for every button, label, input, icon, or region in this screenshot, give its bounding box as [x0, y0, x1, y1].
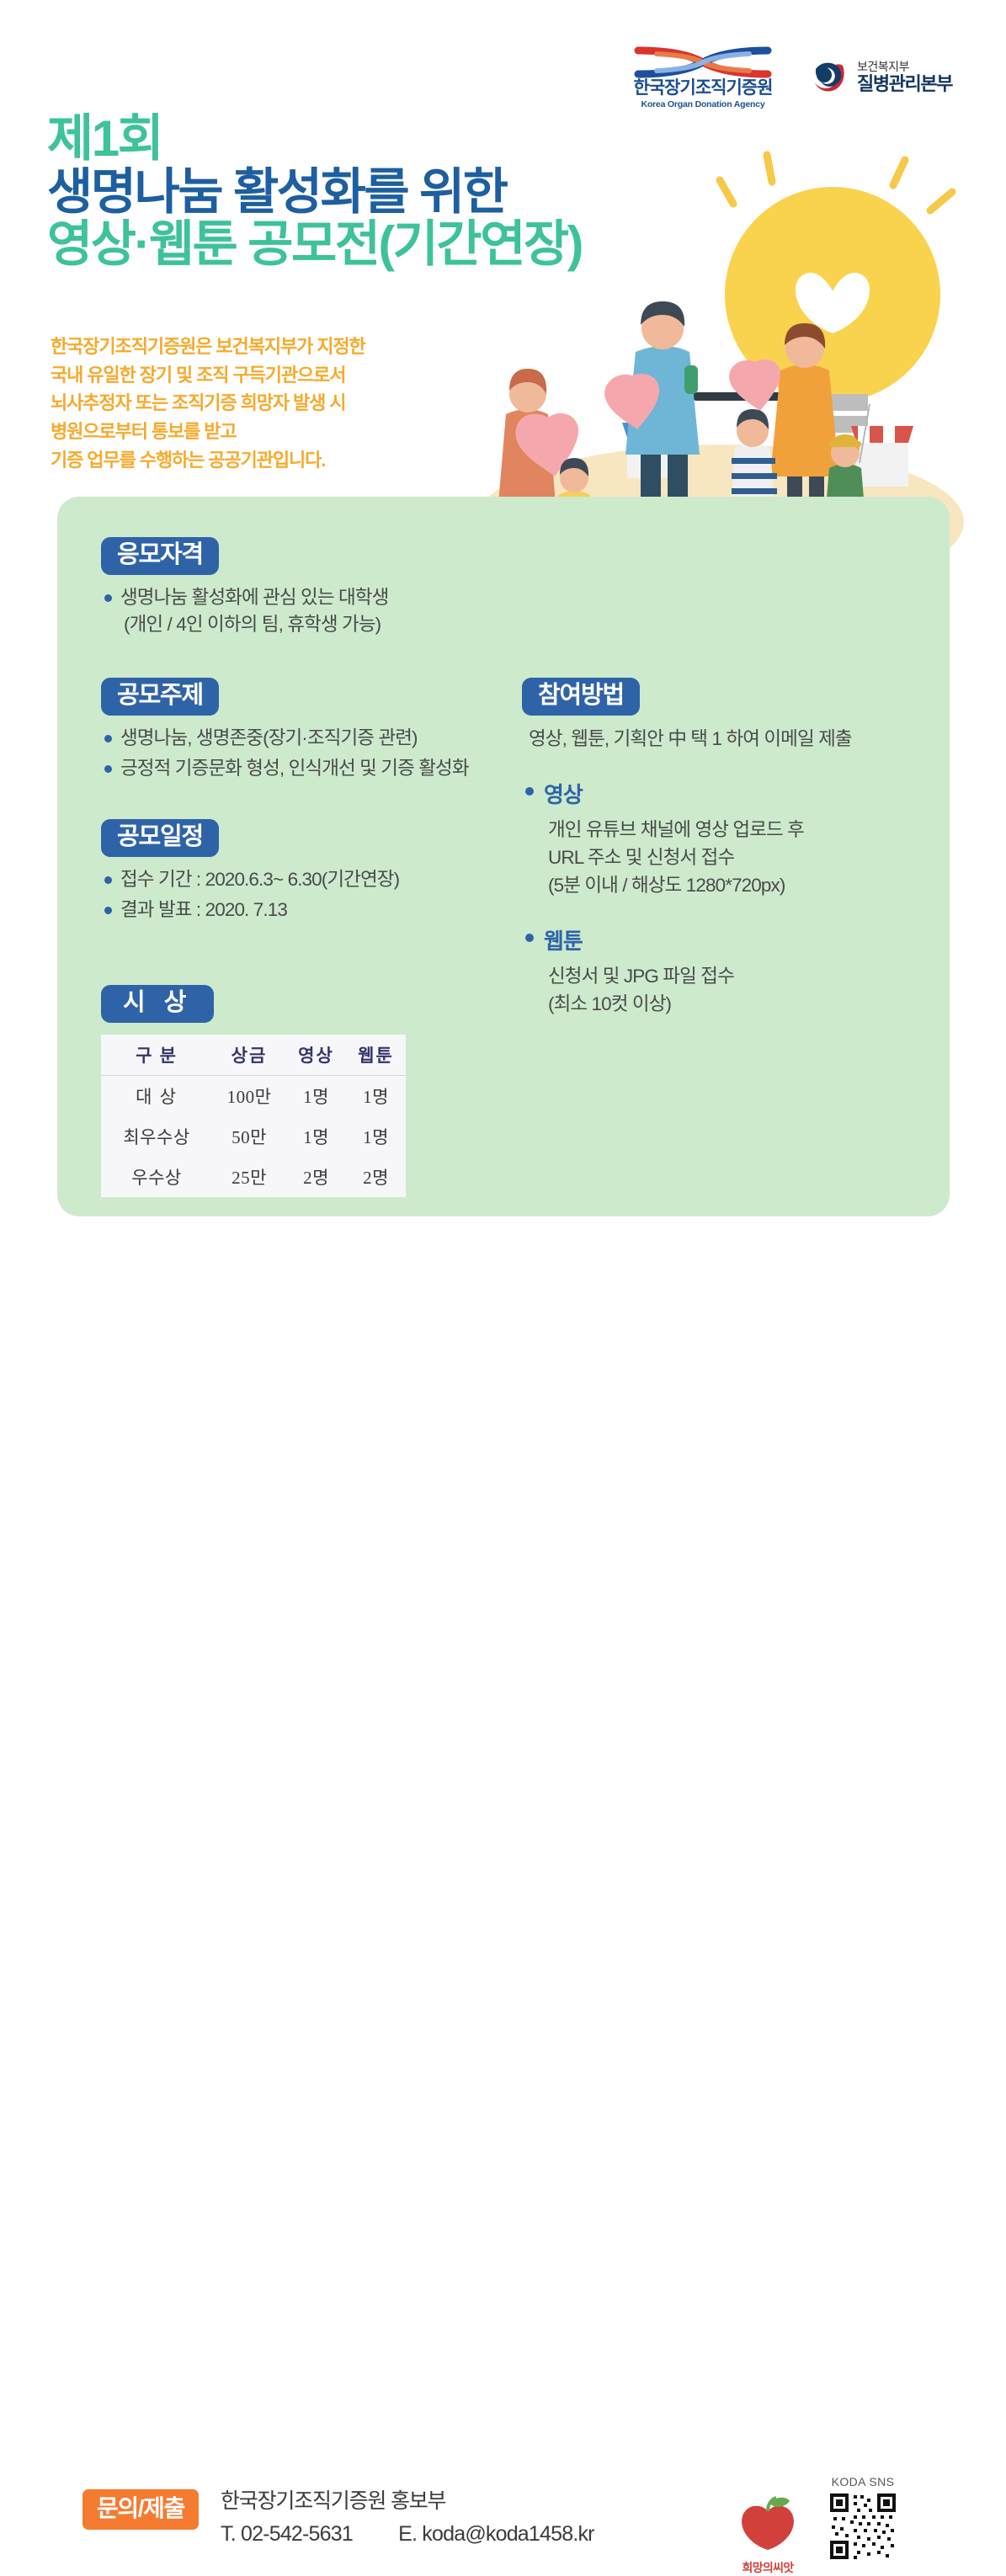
list-item: 접수 기간 : 2020.6.3~ 6.30(기간연장) — [101, 866, 497, 893]
contact-chip: 문의/제출 — [83, 2489, 199, 2530]
section-chip-eligibility: 응모자격 — [101, 537, 219, 575]
intro-paragraph: 한국장기조직기증원은 보건복지부가 지정한 국내 유일한 장기 및 조직 구득기… — [51, 333, 488, 474]
intro-line: 뇌사추정자 또는 조직기증 희망자 발생 시 — [51, 389, 488, 418]
howto-body-line: 신청서 및 JPG 파일 접수 — [548, 963, 901, 991]
howto-entry-head-webtoon: 웹툰 — [522, 924, 901, 955]
table-cell: 25만 — [212, 1157, 286, 1197]
howto-body-line: (5분 이내 / 해상도 1280*720px) — [548, 872, 901, 900]
title-line-3: 영상·웹툰 공모전(기간연장) — [47, 218, 746, 271]
howto-entry-body-webtoon: 신청서 및 JPG 파일 접수 (최소 10컷 이상) — [522, 963, 901, 1019]
table-cell: 2명 — [286, 1157, 346, 1197]
intro-line: 기증 업무를 수행하는 공공기관입니다. — [51, 446, 488, 475]
section-howto: 참여방법 영상, 웹툰, 기획안 中 택 1 하여 이메일 제출 영상 개인 유… — [522, 678, 901, 1019]
prize-table: 구 분 상금 영상 웹툰 대 상 100만 1명 1명 최우수상 50만 1명 … — [101, 1035, 406, 1197]
table-cell: 대 상 — [101, 1076, 212, 1117]
table-row: 우수상 25만 2명 2명 — [101, 1157, 406, 1197]
qr-label: KODA SNS — [821, 2475, 905, 2488]
list-item: 결과 발표 : 2020. 7.13 — [101, 897, 497, 923]
section-topic: 공모주제 생명나눔, 생명존중(장기·조직기증 관련) 긍정적 기증문화 형성,… — [101, 678, 514, 782]
qr-code-icon[interactable] — [828, 2492, 897, 2561]
table-row: 대 상 100만 1명 1명 — [101, 1076, 406, 1117]
list-item-main: 접수 기간 : 2020.6.3~ 6.30(기간연장) — [120, 869, 399, 890]
seed-of-hope-caption: 희망의씨앗 — [726, 2559, 810, 2576]
section-chip-schedule: 공모일정 — [101, 819, 219, 857]
section-chip-howto: 참여방법 — [522, 678, 640, 716]
table-header-cell: 영상 — [286, 1035, 346, 1076]
table-cell: 최우수상 — [101, 1116, 212, 1157]
list-item: 생명나눔, 생명존중(장기·조직기증 관련) — [101, 725, 514, 752]
contact-organization: 한국장기조직기증원 홍보부 — [221, 2484, 445, 2515]
mohw-label-ministry: 보건복지부 — [857, 60, 952, 73]
contact-phone: T. 02-542-5631 — [221, 2522, 353, 2546]
list-item-main: 결과 발표 : 2020. 7.13 — [120, 899, 287, 920]
section-eligibility: 응모자격 생명나눔 활성화에 관심 있는 대학생 (개인 / 4인 이하의 팀,… — [101, 537, 497, 638]
footer: 문의/제출 한국장기조직기증원 홍보부 T. 02-542-5631 E. ko… — [0, 1237, 1006, 1408]
howto-body-line: URL 주소 및 신청서 접수 — [548, 844, 901, 872]
seed-of-hope-logo: 희망의씨앗 — [726, 2496, 810, 2576]
list-item-sub: (개인 / 4인 이하의 팀, 휴학생 가능) — [120, 611, 497, 638]
contact-email[interactable]: E. koda@koda1458.kr — [398, 2522, 594, 2546]
table-cell: 1명 — [286, 1076, 346, 1117]
table-header-cell: 상금 — [212, 1035, 286, 1076]
apple-heart-icon — [732, 2496, 803, 2552]
logo-bar: 한국장기조직기증원 Korea Organ Donation Agency 보건… — [619, 44, 955, 111]
section-chip-topic: 공모주제 — [101, 678, 219, 716]
howto-entry-body-video: 개인 유튜브 채널에 영상 업로드 후 URL 주소 및 신청서 접수 (5분 … — [522, 817, 901, 900]
list-item-main: 생명나눔, 생명존중(장기·조직기증 관련) — [120, 727, 418, 748]
koda-logo-subtitle: Korea Organ Donation Agency — [641, 99, 764, 109]
intro-line: 한국장기조직기증원은 보건복지부가 지정한 — [51, 333, 488, 361]
section-schedule: 공모일정 접수 기간 : 2020.6.3~ 6.30(기간연장) 결과 발표 … — [101, 819, 497, 923]
table-row: 최우수상 50만 1명 1명 — [101, 1116, 406, 1157]
section-chip-awards: 시 상 — [101, 985, 214, 1023]
table-cell: 1명 — [346, 1076, 406, 1117]
taegeuk-icon — [809, 57, 849, 98]
list-item: 생명나눔 활성화에 관심 있는 대학생 (개인 / 4인 이하의 팀, 휴학생 … — [101, 584, 497, 638]
title-line-1: 제1회 — [47, 112, 746, 166]
poster-title: 제1회 생명나눔 활성화를 위한 영상·웹툰 공모전(기간연장) — [47, 112, 746, 271]
table-cell: 100만 — [212, 1076, 286, 1117]
table-header-row: 구 분 상금 영상 웹툰 — [101, 1035, 406, 1076]
table-cell: 1명 — [286, 1116, 346, 1157]
koda-logo-name: 한국장기조직기증원 — [634, 79, 773, 97]
qr-block: KODA SNS — [821, 2475, 905, 2561]
list-item-main: 생명나눔 활성화에 관심 있는 대학생 — [120, 587, 388, 608]
koda-logo: 한국장기조직기증원 Korea Organ Donation Agency — [619, 45, 787, 109]
list-item: 긍정적 기증문화 형성, 인식개선 및 기증 활성화 — [101, 755, 514, 782]
table-cell: 50만 — [212, 1116, 286, 1157]
table-header-cell: 구 분 — [101, 1035, 212, 1076]
intro-line: 국내 유일한 장기 및 조직 구득기관으로서 — [51, 361, 488, 390]
table-cell: 1명 — [346, 1116, 406, 1157]
section-awards: 시 상 구 분 상금 영상 웹툰 대 상 100만 1명 1명 최우수상 50만… — [101, 985, 438, 1197]
table-cell: 우수상 — [101, 1157, 212, 1197]
howto-lead: 영상, 웹툰, 기획안 中 택 1 하여 이메일 제출 — [522, 726, 901, 753]
intro-line: 병원으로부터 통보를 받고 — [51, 418, 488, 446]
contact-details: T. 02-542-5631 E. koda@koda1458.kr — [221, 2522, 594, 2547]
mohw-logo: 보건복지부 질병관리본부 — [809, 57, 952, 98]
howto-body-line: (최소 10컷 이상) — [548, 991, 901, 1019]
table-header-cell: 웹툰 — [346, 1035, 406, 1076]
howto-body-line: 개인 유튜브 채널에 영상 업로드 후 — [548, 817, 901, 844]
mohw-label-kcdc: 질병관리본부 — [857, 73, 952, 94]
table-cell: 2명 — [346, 1157, 406, 1197]
list-item-main: 긍정적 기증문화 형성, 인식개선 및 기증 활성화 — [120, 758, 469, 779]
howto-entry-head-video: 영상 — [522, 778, 901, 809]
koda-ribbon-logo-icon — [631, 45, 774, 79]
title-line-2: 생명나눔 활성화를 위한 — [47, 166, 746, 219]
